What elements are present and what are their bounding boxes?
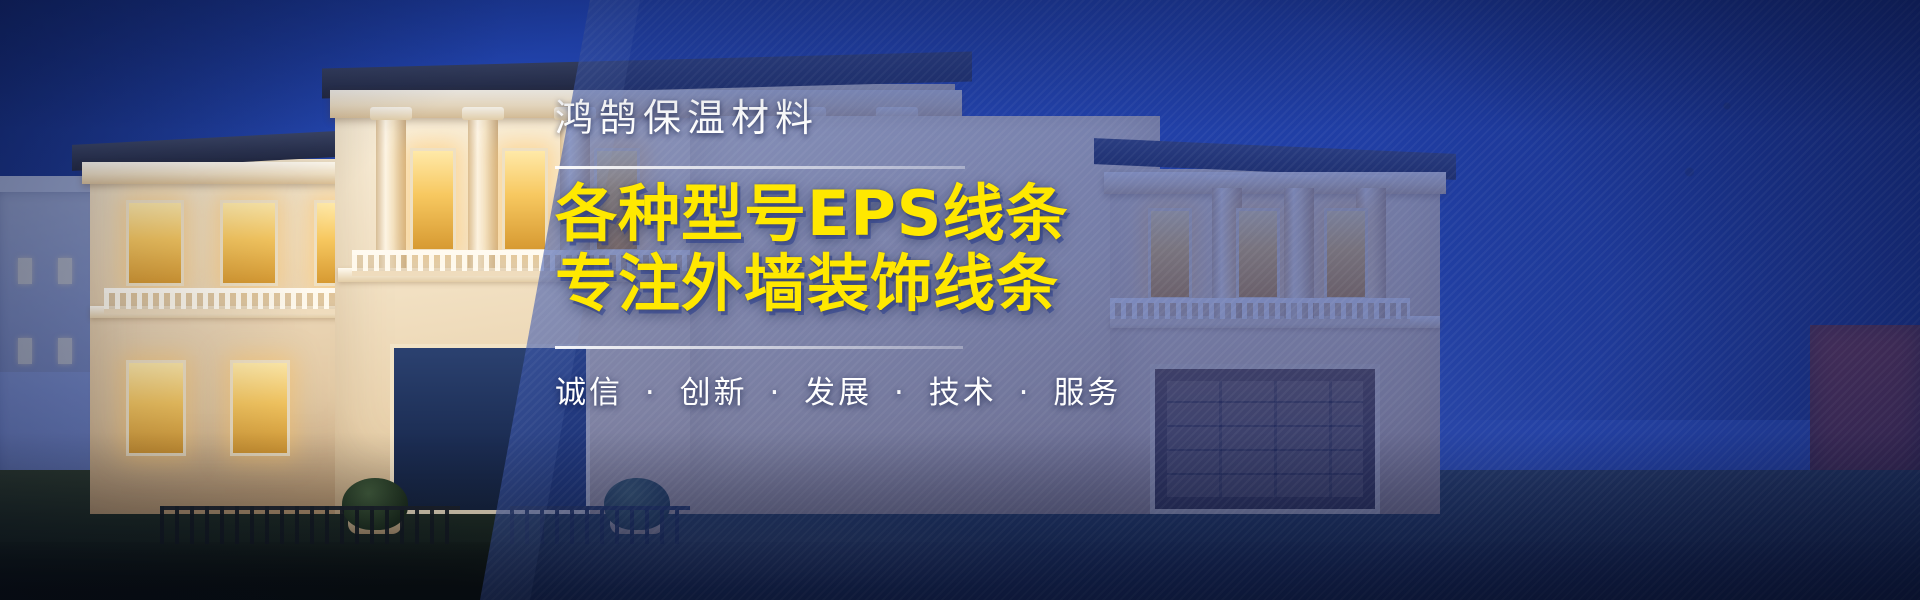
tagline-item-4: 服务	[1053, 375, 1121, 411]
hero-banner: 鸿鹄保温材料 各种型号EPS线条 专注外墙装饰线条 诚信 · 创新 · 发展 ·…	[0, 0, 1920, 600]
tagline: 诚信 · 创新 · 发展 · 技术 · 服务	[555, 367, 1115, 412]
divider-bottom	[555, 346, 963, 349]
company-name: 鸿鹄保温材料	[555, 96, 1115, 142]
tagline-item-2: 发展	[804, 375, 872, 411]
tagline-item-1: 创新	[680, 375, 748, 411]
tagline-separator-2: ·	[894, 375, 907, 411]
headline-line-1: 各种型号EPS线条	[555, 179, 1115, 250]
tagline-item-3: 技术	[929, 375, 997, 411]
tagline-separator-1: ·	[769, 375, 782, 411]
tagline-item-0: 诚信	[555, 375, 623, 411]
divider-top	[555, 166, 965, 169]
tagline-separator-0: ·	[645, 375, 658, 411]
headline-line-2: 专注外墙装饰线条	[555, 249, 1115, 320]
banner-text-block: 鸿鹄保温材料 各种型号EPS线条 专注外墙装饰线条 诚信 · 创新 · 发展 ·…	[555, 96, 1115, 412]
tagline-separator-3: ·	[1019, 375, 1032, 411]
